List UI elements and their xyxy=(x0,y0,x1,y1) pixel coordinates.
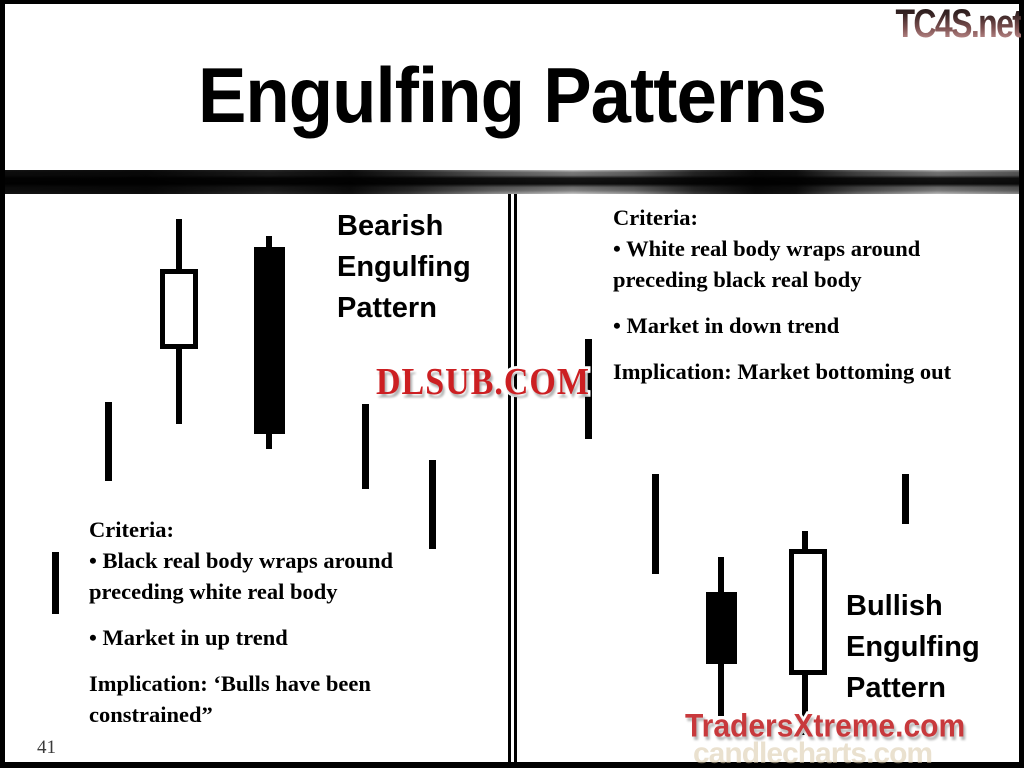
brand-watermark: TC4S.net xyxy=(895,3,1021,45)
black-candle-body xyxy=(254,247,285,434)
criteria-heading: Criteria: xyxy=(613,202,1024,233)
bullish-pattern-label: Bullish Engulfing Pattern xyxy=(846,586,980,709)
implication-line-2: constrained” xyxy=(89,699,489,730)
trend-bar xyxy=(902,474,909,524)
criteria-line-1: • White real body wraps around xyxy=(613,233,1024,264)
center-watermark: DLSUB.COM xyxy=(376,362,590,405)
black-candle-body xyxy=(706,592,737,664)
bullish-criteria-block: Criteria: • White real body wraps around… xyxy=(613,202,1024,387)
slide-header: Engulfing Patterns TC4S.net xyxy=(5,4,1019,168)
bottom-watermark: TradersXtreme.com xyxy=(685,709,965,746)
bearish-panel: Bearish Engulfing Pattern Criteria: • Bl… xyxy=(5,194,508,762)
criteria-line-2: preceding white real body xyxy=(89,576,489,607)
criteria-line-3: • Market in up trend xyxy=(89,622,489,653)
white-candle-body xyxy=(789,549,827,675)
criteria-heading: Criteria: xyxy=(89,514,489,545)
white-candle-body xyxy=(160,269,198,349)
criteria-line-2: preceding black real body xyxy=(613,264,1024,295)
spacer xyxy=(613,341,1024,356)
bullish-panel: Criteria: • White real body wraps around… xyxy=(517,194,1019,762)
implication-line-1: Implication: Market bottoming out xyxy=(613,356,1024,387)
trend-bar xyxy=(652,474,659,574)
spacer xyxy=(89,653,489,668)
page-number: 41 xyxy=(37,737,56,759)
trend-bar xyxy=(362,404,369,489)
spacer xyxy=(89,607,489,622)
slide-body: Bearish Engulfing Pattern Criteria: • Bl… xyxy=(5,194,1019,762)
panel-divider xyxy=(508,194,517,762)
bearish-pattern-label: Bearish Engulfing Pattern xyxy=(337,206,471,329)
slide-canvas: Engulfing Patterns TC4S.net Bearish xyxy=(0,0,1024,768)
implication-line-1: Implication: ‘Bulls have been xyxy=(89,668,489,699)
trend-bar xyxy=(52,552,59,614)
page-title: Engulfing Patterns xyxy=(40,50,983,140)
bearish-criteria-block: Criteria: • Black real body wraps around… xyxy=(89,514,489,730)
criteria-line-3: • Market in down trend xyxy=(613,310,1024,341)
trend-bar xyxy=(105,402,112,481)
criteria-line-1: • Black real body wraps around xyxy=(89,545,489,576)
spacer xyxy=(613,295,1024,310)
header-separator-bar xyxy=(5,170,1019,194)
